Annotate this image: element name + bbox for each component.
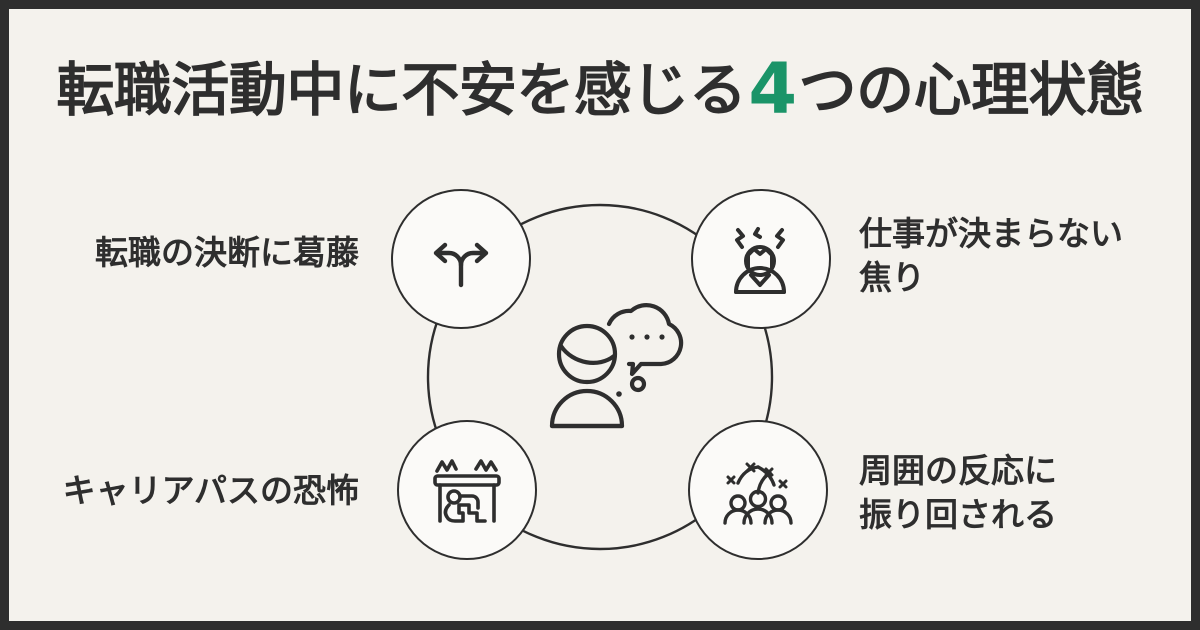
stressed-person-icon	[727, 223, 795, 295]
label-career-decision-conflict: 転職の決断に葛藤	[29, 231, 359, 275]
label-line: 焦り	[859, 256, 1179, 300]
node-career-decision-conflict[interactable]	[391, 189, 531, 329]
node-career-path-fear[interactable]	[397, 420, 537, 560]
label-line: 振り回される	[859, 493, 1179, 537]
label-career-path-fear: キャリアパスの恐怖	[9, 469, 359, 513]
title-prefix: 転職活動中に不安を感じる	[56, 56, 746, 124]
page-title: 転職活動中に不安を感じる4つの心理状態	[9, 49, 1191, 130]
crowd-cheering-icon	[722, 455, 794, 525]
label-line: 仕事が決まらない	[859, 212, 1179, 256]
label-job-search-impatience: 仕事が決まらない 焦り	[859, 212, 1179, 299]
road-fork-arrows-icon	[427, 225, 495, 293]
person-under-desk-icon	[430, 455, 504, 525]
node-job-search-impatience[interactable]	[691, 189, 831, 329]
person-thought-bubble-icon	[542, 297, 702, 447]
label-line: 転職の決断に葛藤	[29, 231, 359, 275]
node-swayed-by-others[interactable]	[688, 420, 828, 560]
title-suffix: つの心理状態	[799, 56, 1144, 124]
label-swayed-by-others: 周囲の反応に 振り回される	[859, 449, 1179, 536]
title-accent-number: 4	[746, 48, 798, 130]
label-line: キャリアパスの恐怖	[9, 469, 359, 513]
infographic-canvas: 転職活動中に不安を感じる4つの心理状態	[0, 0, 1200, 630]
label-line: 周囲の反応に	[859, 449, 1179, 493]
